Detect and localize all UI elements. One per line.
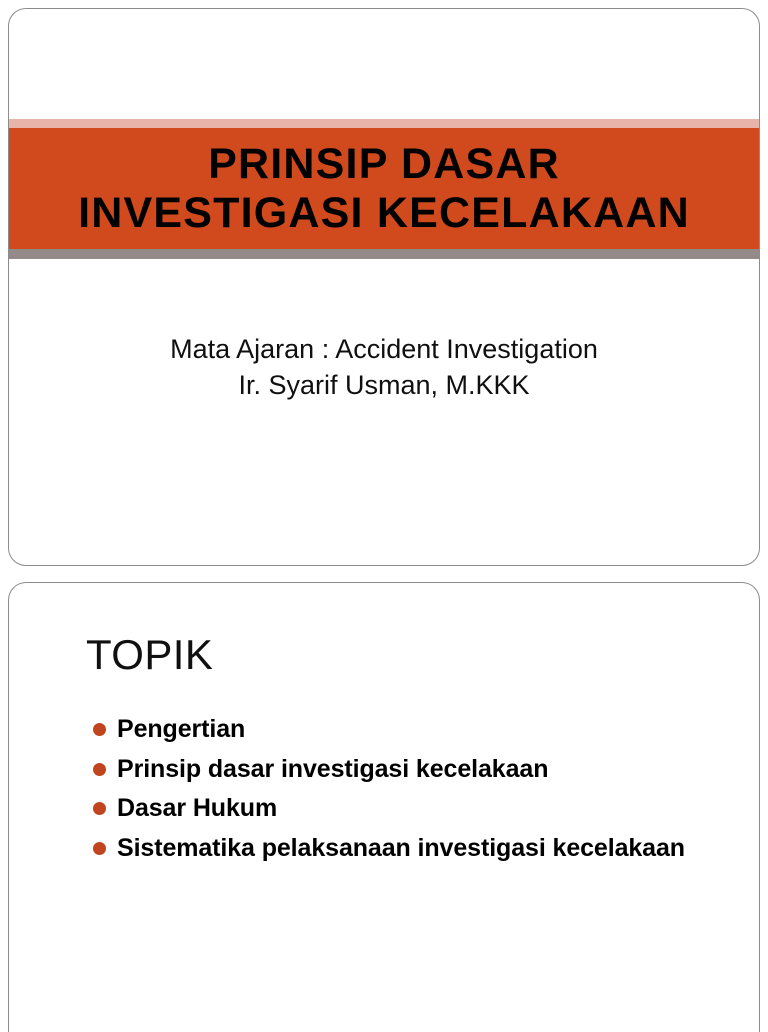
bullet-dot-icon [93,723,106,736]
title-subtitle: Mata Ajaran : Accident Investigation Ir.… [9,331,759,403]
list-item: Sistematika pelaksanaan investigasi kece… [85,829,719,869]
page-title: PRINSIP DASAR INVESTIGASI KECELAKAAN [9,128,759,249]
topik-bullet-list: Pengertian Prinsip dasar investigasi kec… [85,710,719,868]
list-item: Dasar Hukum [85,789,719,829]
list-item-label: Pengertian [117,715,245,743]
bullet-dot-icon [93,763,106,776]
banner-accent-gray [9,249,759,259]
list-item: Pengertian [85,710,719,750]
slide-deck: PRINSIP DASAR INVESTIGASI KECELAKAAN Mat… [0,0,768,1024]
subtitle-course-line: Mata Ajaran : Accident Investigation [9,331,759,367]
banner-accent-pink [9,119,759,128]
bullet-dot-icon [93,842,106,855]
slide-title[interactable]: PRINSIP DASAR INVESTIGASI KECELAKAAN Mat… [8,8,760,566]
page-title-line-2: INVESTIGASI KECELAKAAN [78,189,690,237]
bullet-dot-icon [93,802,106,815]
page-title-line-1: PRINSIP DASAR [208,140,560,188]
list-item-label: Prinsip dasar investigasi kecelakaan [117,755,548,783]
slide-topik[interactable]: TOPIK Pengertian Prinsip dasar investiga… [8,582,760,1032]
topik-heading: TOPIK [86,631,213,679]
subtitle-presenter-line: Ir. Syarif Usman, M.KKK [9,367,759,403]
list-item-label: Sistematika pelaksanaan investigasi kece… [117,834,685,862]
list-item: Prinsip dasar investigasi kecelakaan [85,750,719,790]
list-item-label: Dasar Hukum [117,794,277,822]
